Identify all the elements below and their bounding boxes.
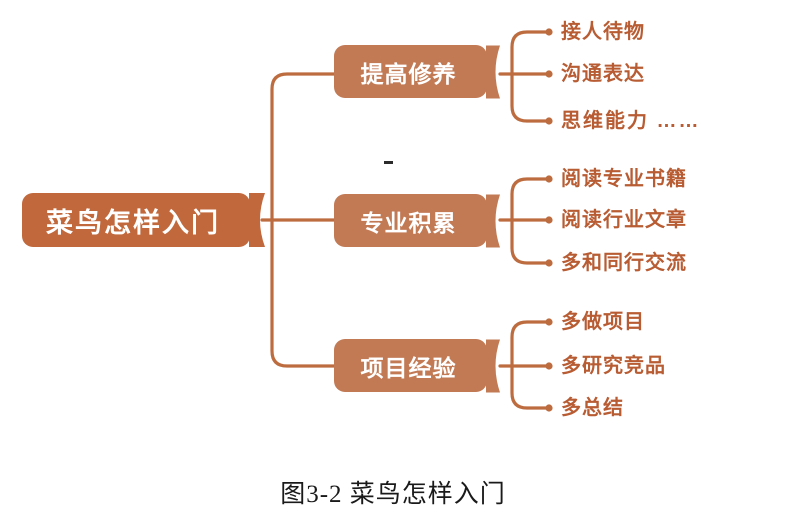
leaf-label[interactable]: 阅读行业文章: [561, 210, 687, 230]
branch-node-2[interactable]: 专业积累: [334, 194, 487, 247]
leaf-label[interactable]: 阅读专业书籍: [561, 169, 687, 189]
stray-dash-artifact: [384, 161, 393, 164]
branch-node-2-label: 专业积累: [361, 204, 457, 238]
branch-node-1-label: 提高修养: [361, 55, 457, 89]
root-node[interactable]: 菜鸟怎样入门: [22, 193, 250, 247]
branch-node-3-label: 项目经验: [361, 349, 457, 383]
root-node-notch: [249, 193, 265, 247]
leaf-label[interactable]: 思维能力 ……: [561, 111, 701, 131]
leaf-label[interactable]: 多做项目: [561, 312, 645, 332]
leaf-label[interactable]: 多和同行交流: [561, 253, 687, 273]
mindmap-canvas: 菜鸟怎样入门 提高修养 专业积累 项目经验 接人待物 沟通表达 思维能力 …… …: [0, 0, 786, 524]
branch-node-3-notch: [486, 339, 500, 393]
leaf-label[interactable]: 多研究竞品: [561, 356, 666, 376]
leaf-label[interactable]: 多总结: [561, 398, 624, 418]
branch-node-1-notch: [486, 45, 500, 99]
leaf-label[interactable]: 接人待物: [561, 22, 645, 42]
figure-caption: 图3-2 菜鸟怎样入门: [0, 474, 786, 510]
root-node-label: 菜鸟怎样入门: [46, 201, 220, 240]
branch-node-2-notch: [486, 194, 500, 248]
branch-node-1[interactable]: 提高修养: [334, 45, 487, 98]
branch-node-3[interactable]: 项目经验: [334, 339, 487, 392]
leaf-label[interactable]: 沟通表达: [561, 64, 645, 84]
